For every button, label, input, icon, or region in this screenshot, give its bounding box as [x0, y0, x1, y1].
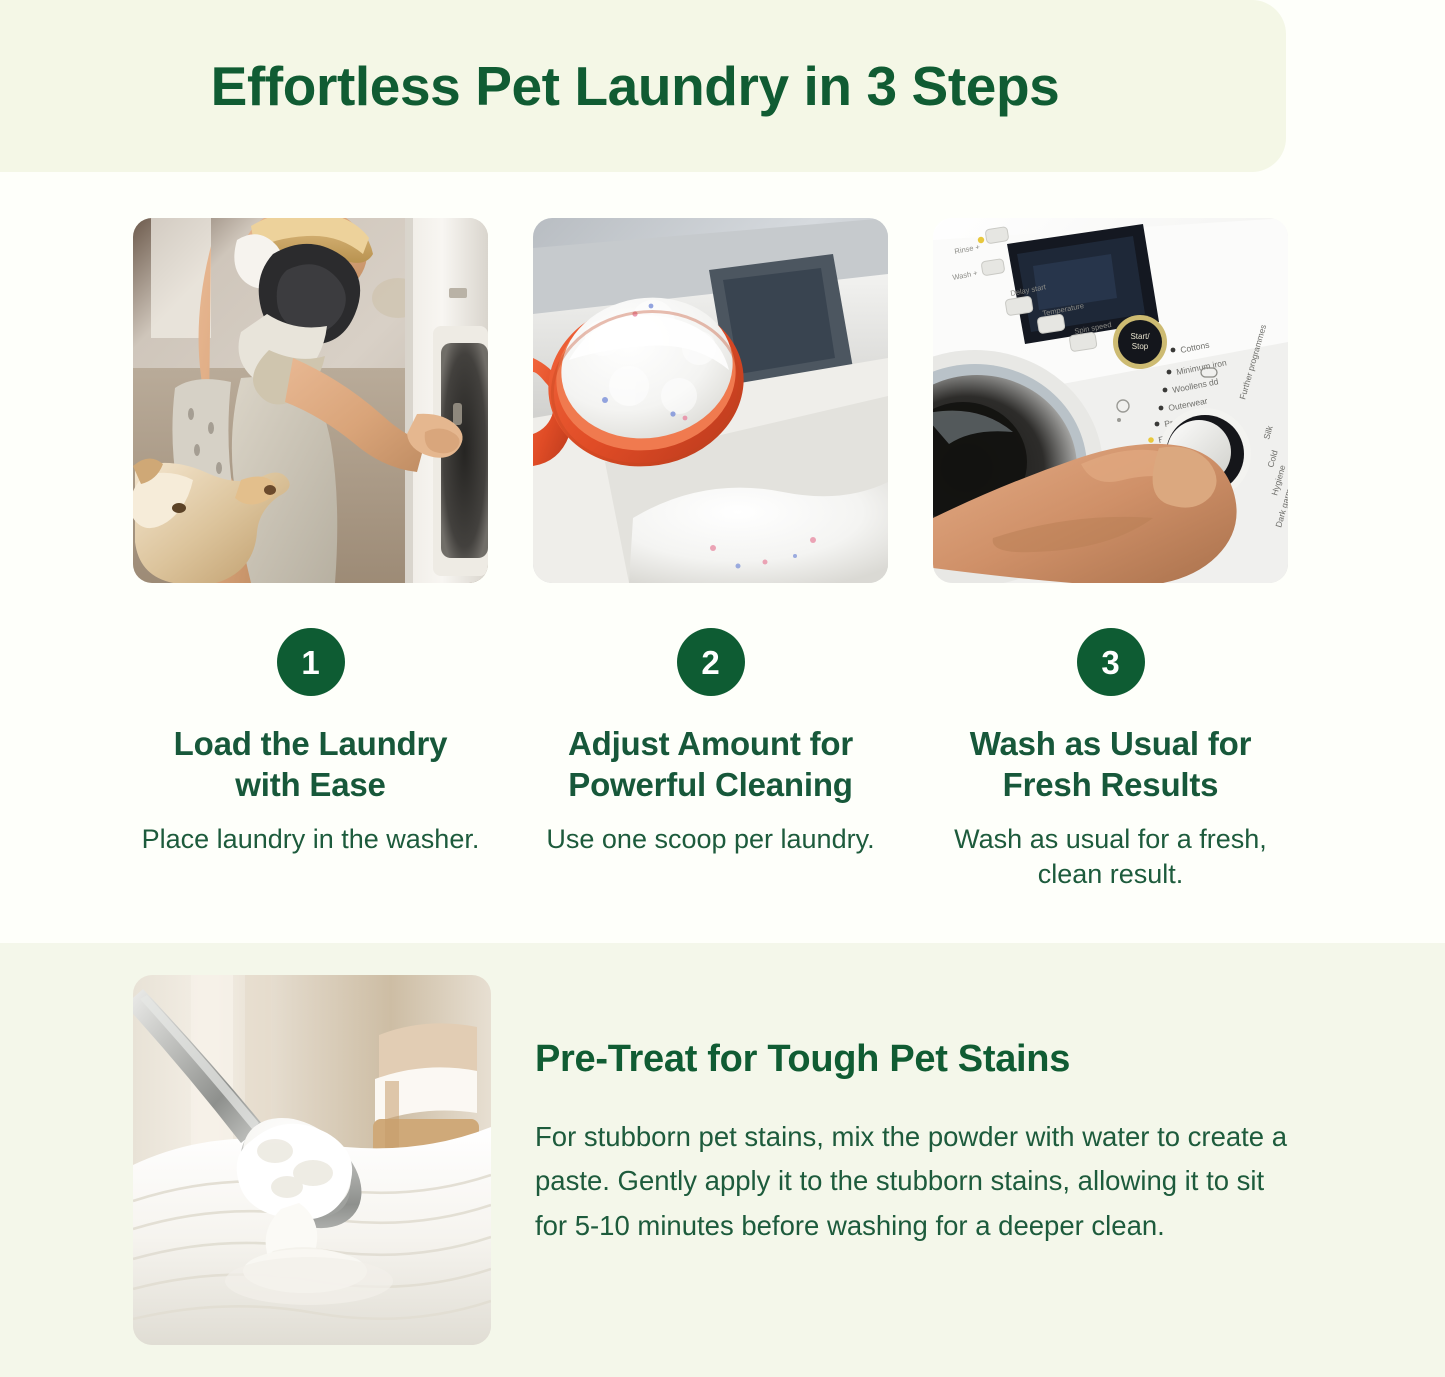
step-2-badge: 2 [677, 628, 745, 696]
step-2-description: Use one scoop per laundry. [546, 822, 874, 858]
step-card-2: 2 Adjust Amount for Powerful Cleaning Us… [533, 218, 888, 893]
step-1-title: Load the Laundry with Ease [146, 723, 476, 806]
pretreat-content: Pre-Treat for Tough Pet Stains For stubb… [133, 975, 1300, 1345]
steps-row: 1 Load the Laundry with Ease Place laund… [133, 218, 1287, 893]
step-card-3: Start/ Stop Delay start Temperature Spin… [933, 218, 1288, 893]
pretreat-section: Pre-Treat for Tough Pet Stains For stubb… [0, 943, 1445, 1377]
page-title: Effortless Pet Laundry in 3 Steps [211, 59, 1076, 114]
step-2-title: Adjust Amount for Powerful Cleaning [546, 723, 876, 806]
pretreat-title: Pre-Treat for Tough Pet Stains [535, 1038, 1300, 1082]
step-3-image: Start/ Stop Delay start Temperature Spin… [933, 218, 1288, 583]
pretreat-body: For stubborn pet stains, mix the powder … [535, 1115, 1297, 1249]
pretreat-image [133, 975, 491, 1345]
step-3-badge: 3 [1077, 628, 1145, 696]
header-banner: Effortless Pet Laundry in 3 Steps [0, 0, 1286, 172]
svg-text:Stop: Stop [1132, 342, 1149, 351]
step-3-description: Wash as usual for a fresh, clean result. [936, 822, 1286, 894]
pretreat-text-block: Pre-Treat for Tough Pet Stains For stubb… [535, 975, 1300, 1248]
step-1-image [133, 218, 488, 583]
step-2-image [533, 218, 888, 583]
step-3-title: Wash as Usual for Fresh Results [946, 723, 1276, 806]
step-1-description: Place laundry in the washer. [142, 822, 480, 858]
svg-text:Start/: Start/ [1130, 332, 1150, 341]
steps-section: 1 Load the Laundry with Ease Place laund… [0, 172, 1445, 943]
step-1-badge: 1 [277, 628, 345, 696]
step-card-1: 1 Load the Laundry with Ease Place laund… [133, 218, 488, 893]
